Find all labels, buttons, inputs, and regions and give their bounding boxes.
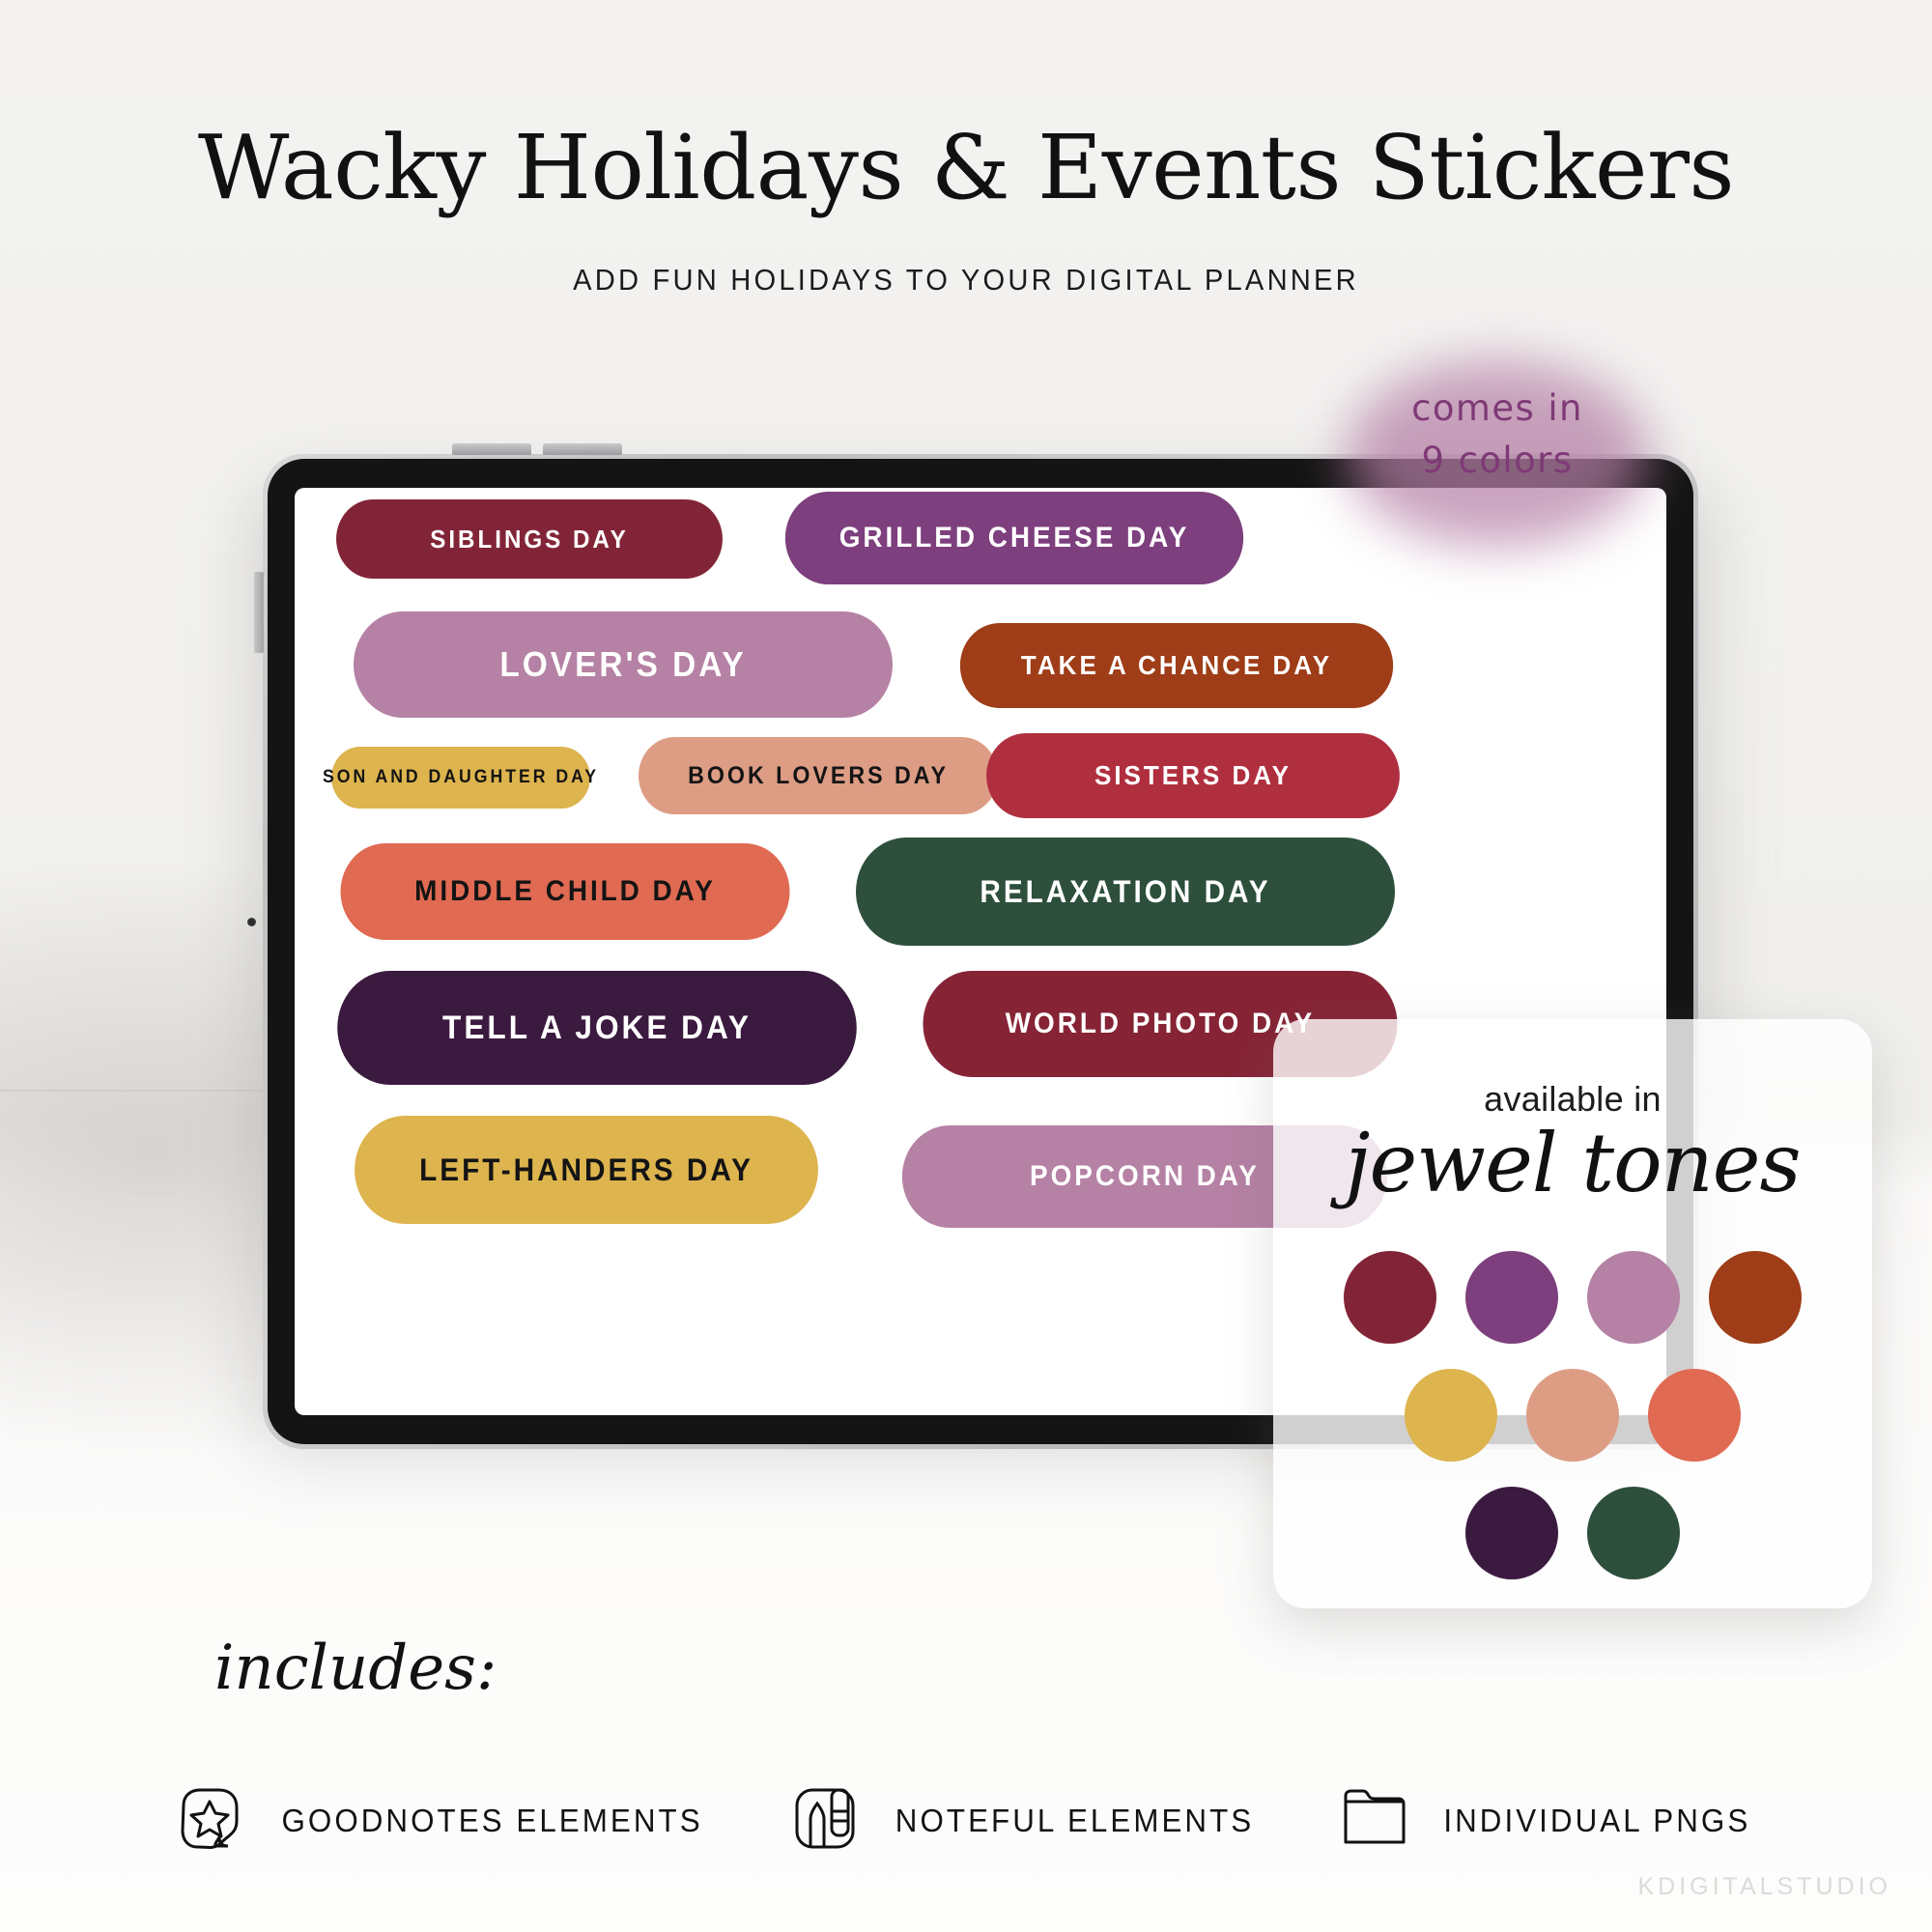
header: Wacky Holidays & Events Stickers ADD FUN…: [0, 0, 1932, 298]
color-swatch[interactable]: [1587, 1251, 1680, 1344]
power-button-left-edge[interactable]: [254, 572, 264, 653]
jewel-tones-card: available in jewel tones: [1273, 1019, 1872, 1608]
sticker-label: GRILLED CHEESE DAY: [839, 522, 1190, 554]
page-title: Wacky Holidays & Events Stickers: [0, 0, 1932, 213]
sticker-pill[interactable]: TELL A JOKE DAY: [337, 971, 857, 1085]
volume-button-top-left[interactable]: [452, 443, 531, 455]
includes-item-label: GOODNOTES ELEMENTS: [281, 1803, 702, 1839]
sticker-label: BOOK LOVERS DAY: [688, 762, 949, 790]
sticker-label: TELL A JOKE DAY: [442, 1009, 752, 1047]
sticker-label: LOVER'S DAY: [499, 644, 746, 685]
color-swatch[interactable]: [1648, 1369, 1741, 1462]
sticker-label: RELAXATION DAY: [980, 874, 1270, 910]
sticker-pill[interactable]: RELAXATION DAY: [856, 838, 1395, 946]
swatch-row: [1273, 1369, 1872, 1462]
includes-item: NOTEFUL ELEMENTS: [789, 1782, 1264, 1859]
includes-item-label: INDIVIDUAL PNGS: [1443, 1803, 1750, 1839]
sticker-label: LEFT-HANDERS DAY: [419, 1152, 753, 1188]
color-swatch[interactable]: [1405, 1369, 1497, 1462]
sticker-label: TAKE A CHANCE DAY: [1021, 650, 1332, 681]
sticker-label: SON AND DAUGHTER DAY: [323, 767, 599, 788]
front-camera-icon: [247, 918, 256, 926]
badge-line-1: comes in: [1347, 383, 1648, 435]
pen-tools-icon: [789, 1782, 861, 1859]
swatch-row: [1273, 1251, 1872, 1344]
includes-item-label: NOTEFUL ELEMENTS: [895, 1803, 1254, 1839]
color-swatch[interactable]: [1526, 1369, 1619, 1462]
volume-button-top-right[interactable]: [543, 443, 622, 455]
includes-item: GOODNOTES ELEMENTS: [174, 1782, 714, 1859]
sticker-label: WORLD PHOTO DAY: [1006, 1008, 1316, 1040]
color-swatch[interactable]: [1587, 1487, 1680, 1579]
watermark: KDIGITALSTUDIO: [1637, 1873, 1891, 1901]
folder-icon: [1339, 1782, 1410, 1859]
jewel-tones-title: jewel tones: [1273, 1116, 1872, 1210]
page-subtitle: ADD FUN HOLIDAYS TO YOUR DIGITAL PLANNER: [58, 213, 1874, 298]
color-swatch[interactable]: [1465, 1487, 1558, 1579]
color-swatch[interactable]: [1344, 1251, 1436, 1344]
jewel-available-label: available in: [1273, 1079, 1872, 1120]
sticker-pill[interactable]: GRILLED CHEESE DAY: [785, 492, 1243, 584]
includes-item: INDIVIDUAL PNGS: [1339, 1782, 1759, 1859]
sticker-label: SIBLINGS DAY: [430, 525, 628, 554]
color-swatch-grid: [1273, 1251, 1872, 1605]
sticker-pill[interactable]: SIBLINGS DAY: [336, 499, 723, 579]
color-swatch[interactable]: [1465, 1251, 1558, 1344]
badge-line-2: 9 colors: [1347, 435, 1648, 487]
swatch-row: [1273, 1487, 1872, 1579]
sticker-pill[interactable]: LEFT-HANDERS DAY: [355, 1116, 818, 1224]
sticker-pill[interactable]: SON AND DAUGHTER DAY: [331, 747, 590, 809]
sticker-pill[interactable]: BOOK LOVERS DAY: [639, 737, 998, 814]
color-swatch[interactable]: [1709, 1251, 1802, 1344]
sticker-star-icon: [174, 1782, 245, 1859]
sticker-pill[interactable]: LOVER'S DAY: [354, 611, 893, 718]
includes-row: GOODNOTES ELEMENTS NOTEFUL ELEMENTS INDI…: [0, 1782, 1932, 1859]
sticker-label: SISTERS DAY: [1094, 760, 1292, 791]
sticker-label: MIDDLE CHILD DAY: [414, 875, 716, 908]
sticker-pill[interactable]: SISTERS DAY: [986, 733, 1400, 818]
sticker-pill[interactable]: TAKE A CHANCE DAY: [960, 623, 1393, 708]
includes-label: includes:: [214, 1633, 497, 1704]
comes-in-9-colors-badge: comes in 9 colors: [1347, 383, 1648, 486]
sticker-label: POPCORN DAY: [1030, 1160, 1260, 1193]
sticker-pill[interactable]: MIDDLE CHILD DAY: [341, 843, 790, 940]
